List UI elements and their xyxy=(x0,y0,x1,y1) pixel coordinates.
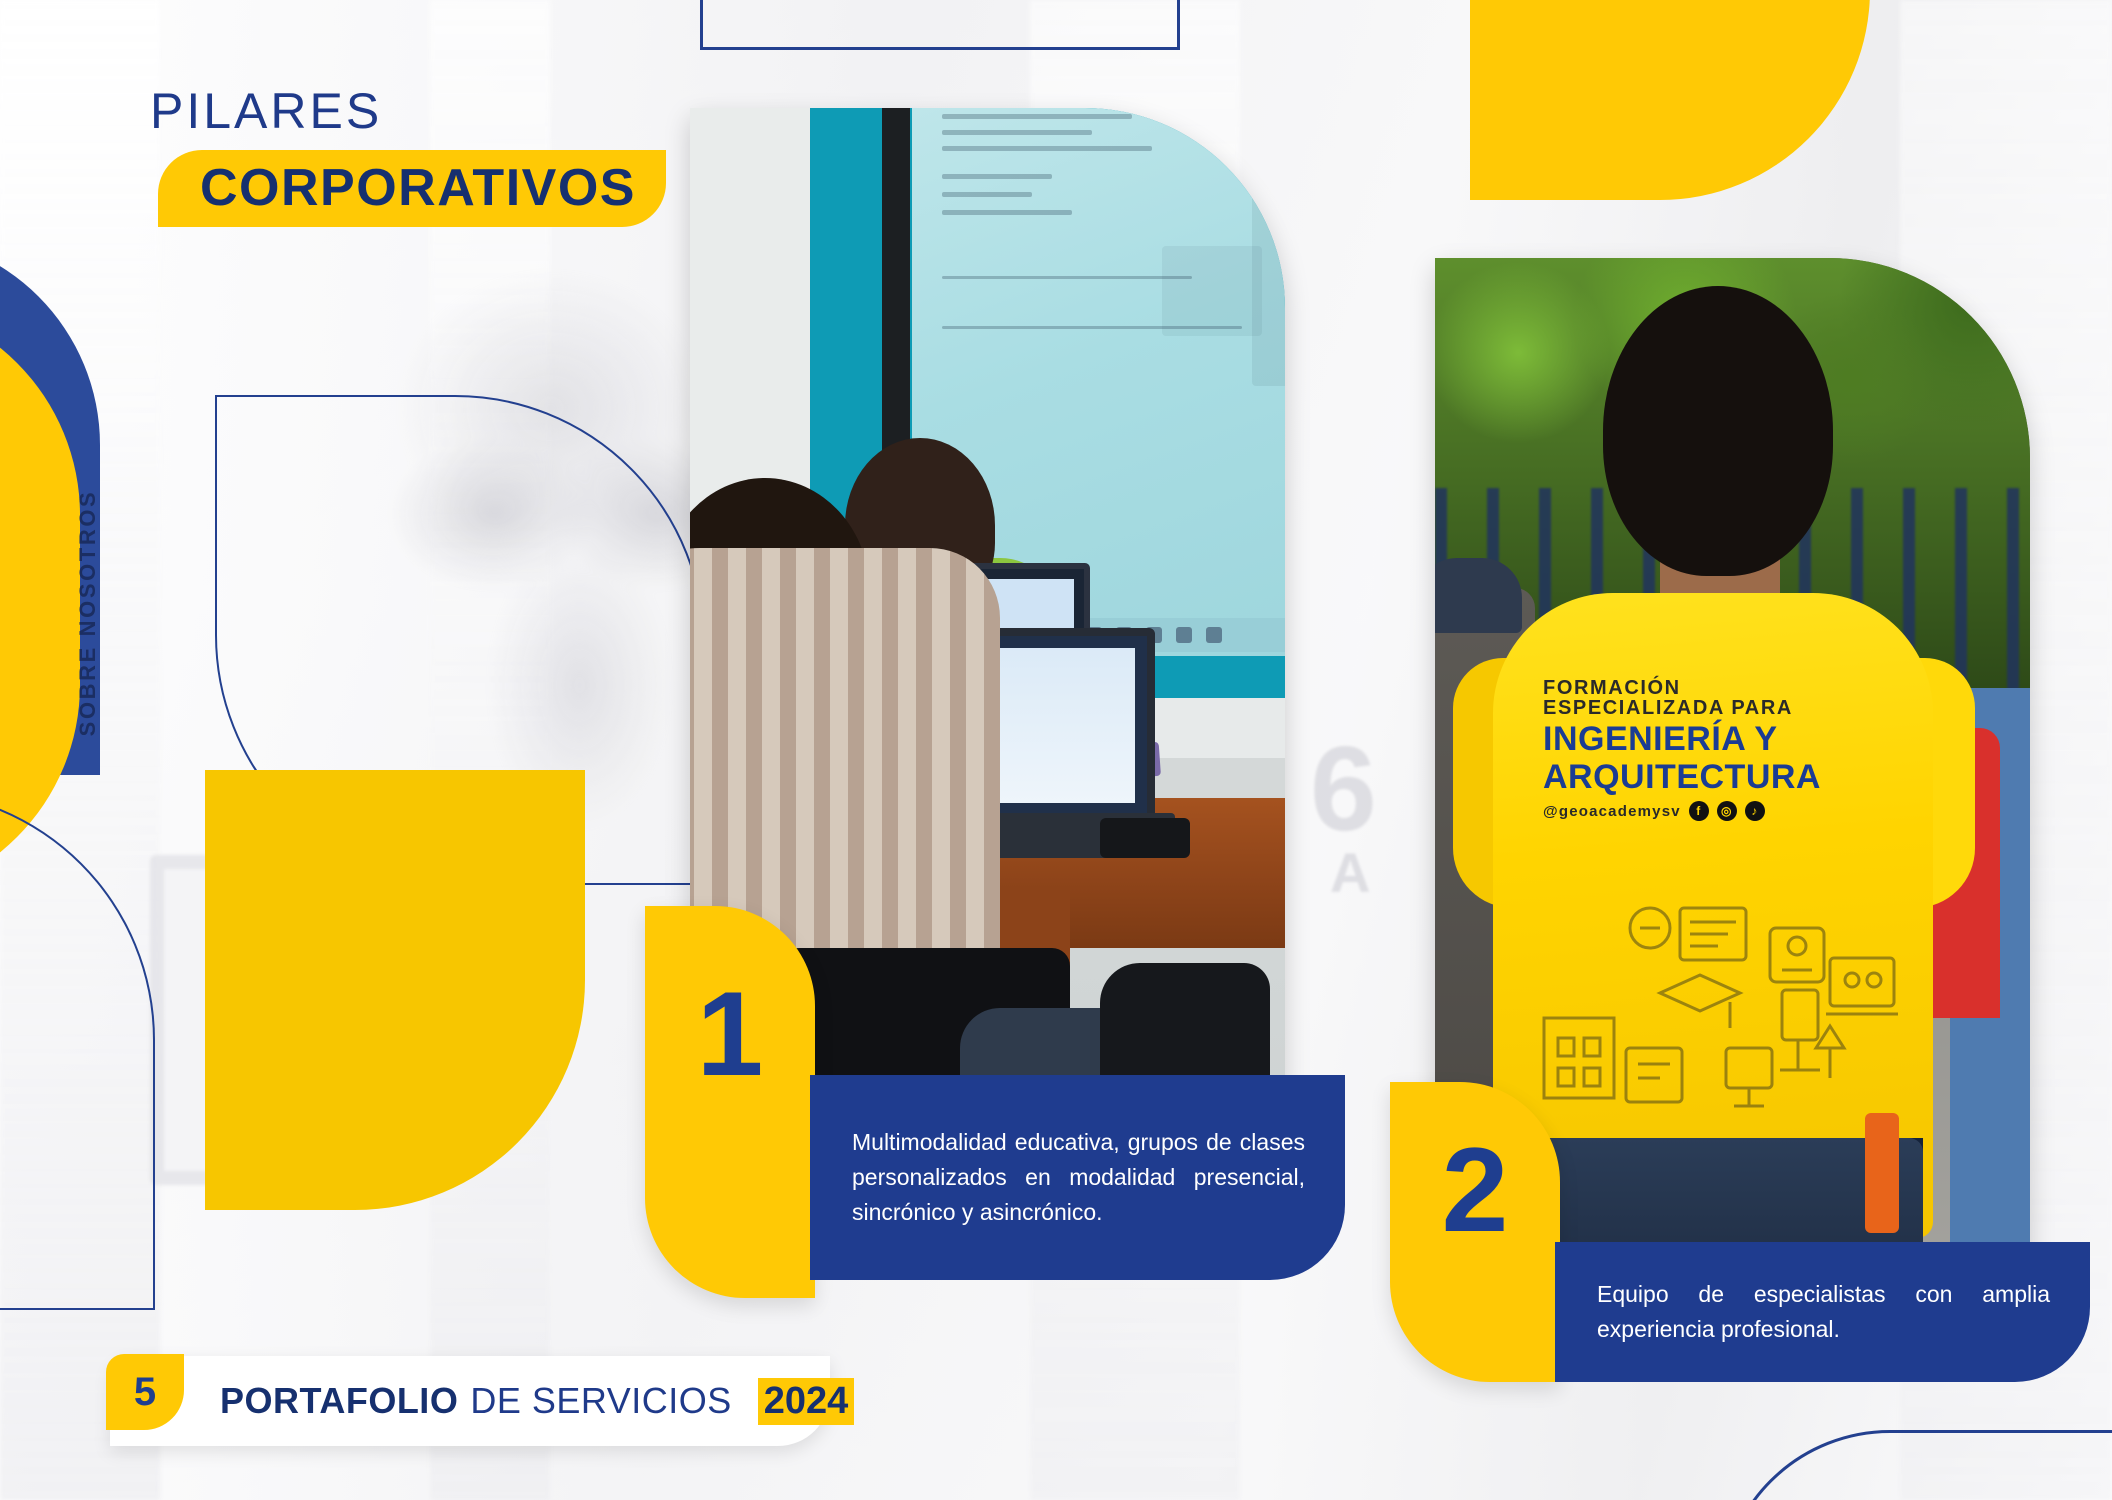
footer-bar: 5 PORTAFOLIO DE SERVICIOS 2024 xyxy=(110,1356,830,1446)
tshirt-handle: @geoacademysv xyxy=(1543,804,1681,819)
decor-outline-top xyxy=(700,0,1180,50)
tshirt-line1: FORMACIÓN xyxy=(1543,678,1883,698)
page-title: PILARES CORPORATIVOS xyxy=(150,86,666,227)
pillar-caption-2: Equipo de especialistas con amplia exper… xyxy=(1555,1242,2090,1382)
page-number-badge: 5 xyxy=(106,1354,184,1430)
footer-title-regular: DE SERVICIOS xyxy=(470,1380,731,1422)
tshirt-line2: ESPECIALIZADA PARA xyxy=(1543,698,1883,718)
tshirt-line3: INGENIERÍA Y xyxy=(1543,722,1883,756)
background-ghost-text: 6 xyxy=(1310,720,1379,858)
tshirt-line4: ARQUITECTURA xyxy=(1543,760,1883,794)
tshirt-print: FORMACIÓN ESPECIALIZADA PARA INGENIERÍA … xyxy=(1543,678,1883,821)
facebook-icon: f xyxy=(1689,801,1709,821)
tiktok-icon: ♪ xyxy=(1745,801,1765,821)
pillar-number-2: 2 xyxy=(1442,1130,1509,1250)
footer-year: 2024 xyxy=(758,1378,855,1425)
page-title-band: CORPORATIVOS xyxy=(158,150,666,227)
pillar-number-badge-1: 1 xyxy=(645,906,815,1298)
slide-page: 6 A SOBRE NOSOTROS PILARES CORPORATIVOS xyxy=(0,0,2112,1500)
instagram-icon: ◎ xyxy=(1717,801,1737,821)
pillar-number-badge-2: 2 xyxy=(1390,1082,1560,1382)
page-title-line1: PILARES xyxy=(150,86,666,136)
pillar-caption-1: Multimodalidad educativa, grupos de clas… xyxy=(810,1075,1345,1280)
tshirt-doodle-icons xyxy=(1530,898,1900,1148)
background-ghost-text: A xyxy=(1330,840,1372,905)
tshirt-handle-row: @geoacademysv f ◎ ♪ xyxy=(1543,801,1883,821)
page-title-line2: CORPORATIVOS xyxy=(200,162,636,214)
pillar-caption-1-text: Multimodalidad educativa, grupos de clas… xyxy=(852,1125,1305,1230)
side-tab-label: SOBRE NOSOTROS xyxy=(75,463,101,763)
footer-title: PORTAFOLIO DE SERVICIOS 2024 xyxy=(220,1378,854,1425)
pillar-caption-2-text: Equipo de especialistas con amplia exper… xyxy=(1597,1277,2050,1347)
pillar-number-1: 1 xyxy=(697,974,764,1094)
footer-title-bold: PORTAFOLIO xyxy=(220,1380,458,1422)
